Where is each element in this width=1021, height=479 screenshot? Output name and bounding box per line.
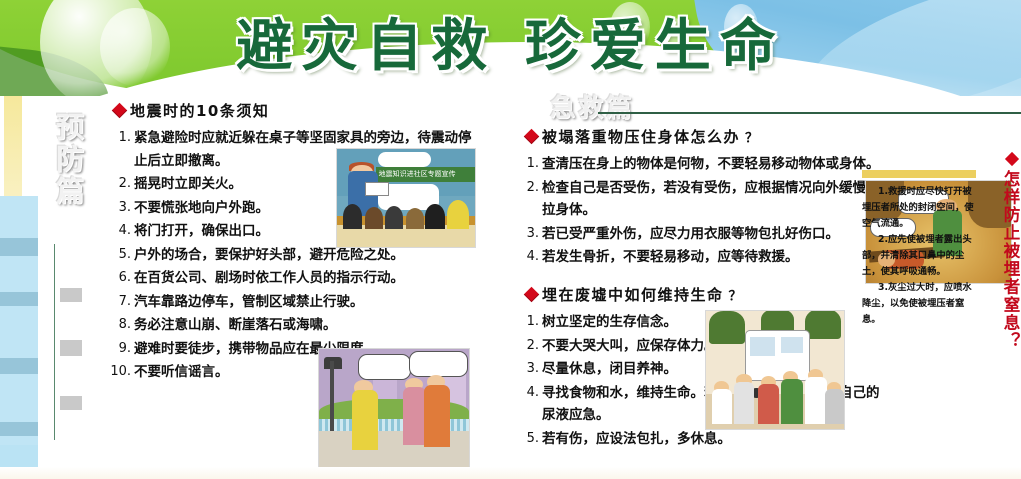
lecture-book: [365, 182, 389, 196]
list-item-number: 3.: [110, 197, 131, 220]
list-item-number: 1.: [522, 153, 539, 176]
rail-gray-band-2: [60, 340, 82, 356]
suffocation-prevention-text: 1.救援时应尽快打开被埋压者所处的封闭空间，使空气流通。 2.应先使被埋者露出头…: [862, 184, 978, 328]
list-item-text: 若有伤，应设法包扎，多休息。: [542, 428, 882, 451]
ambulance-window-2: [781, 337, 803, 354]
list-item: 3.若已受严重外伤，应尽力用衣服等物包扎好伤口。: [522, 223, 882, 246]
list-item-number: 10.: [110, 361, 131, 384]
subsection-1-question-mark: ？: [745, 127, 760, 146]
section-label-first-aid: 急救篇: [550, 88, 634, 124]
lecture-audience-2: [365, 207, 383, 230]
poster-title: 避灾自救 珍爱生命: [0, 16, 1021, 78]
list-item-number: 5.: [110, 244, 131, 267]
illustration-community-lecture: 地震知识进社区专题宣传: [336, 148, 476, 248]
street-person-1-body: [352, 390, 378, 450]
list-item: 2.检查自己是否受伤，若没有受伤，应根据情况向外缓慢拽拉身体。: [522, 177, 882, 222]
subsection-2-heading-text: 埋在废墟中如何维持生命: [542, 284, 724, 305]
list-item: 8.务必注意山崩、断崖落石或海啸。: [110, 314, 472, 337]
street-person-3-body: [424, 385, 450, 447]
list-item-number: 3.: [522, 223, 539, 246]
left-section-heading-text: 地震时的10条须知: [130, 100, 269, 121]
rail-band-2: [0, 292, 38, 306]
street-lamp-post: [330, 361, 334, 431]
list-item: 5.若有伤，应设法包扎，多休息。: [522, 428, 882, 451]
list-item-number: 2.: [522, 335, 539, 358]
list-item-text: 务必注意山崩、断崖落石或海啸。: [134, 314, 472, 337]
subsection-1-heading-text: 被塌落重物压住身体怎么办: [542, 126, 740, 147]
left-decorative-rail: 预防篇: [0, 96, 112, 479]
ambulance-person-6-body: [825, 389, 844, 424]
lecture-audience-5: [425, 204, 444, 229]
street-speech-bubble-2: [409, 351, 468, 377]
illustration-street-rumor: [318, 348, 470, 470]
ambulance-person-4-body: [781, 379, 803, 424]
left-content-column: 地震时的10条须知 地震知识进社区专题宣传 1.紧急避险时应就近躲: [110, 100, 472, 479]
list-item-number: 6.: [110, 267, 131, 290]
lecture-speech-bubble-1: [378, 152, 430, 167]
far-right-top-bar: [862, 170, 976, 178]
subsection-1-heading: 被塌落重物压住身体怎么办 ？: [526, 126, 882, 147]
list-item-number: 3.: [522, 358, 539, 381]
list-item-number: 8.: [110, 314, 131, 337]
list-item-text: 在百货公司、剧场时依工作人员的指示行动。: [134, 267, 472, 290]
rail-band-1: [0, 238, 38, 256]
ambulance-person-3-body: [758, 384, 779, 424]
poster-page: 避灾自救 珍爱生命 预防篇 地震时的10条须知 地震知识进社区专题宣传: [0, 0, 1021, 479]
list-item-number: 7.: [110, 291, 131, 314]
lecture-audience-6: [447, 200, 469, 229]
list-item-number: 9.: [110, 338, 131, 361]
list-item-number: 1.: [522, 311, 539, 334]
list-item-number: 2.: [110, 173, 131, 196]
diamond-bullet-icon: [112, 103, 128, 119]
first-aid-subsection-1: 被塌落重物压住身体怎么办 ？ 1.查清压在身上的物体是何物，不要轻易移动物体或身…: [522, 126, 882, 270]
list-item-text: 汽车靠路边停车，管制区域禁止行驶。: [134, 291, 472, 314]
diamond-bullet-icon: [524, 287, 540, 303]
suffocation-prevention-title: 怎样防止被埋者窒息？: [997, 170, 1021, 350]
list-item-number: 4.: [522, 382, 539, 405]
lecture-audience-1: [343, 204, 362, 229]
list-item: 7.汽车靠路边停车，管制区域禁止行驶。: [110, 291, 472, 314]
list-item: 6.在百货公司、剧场时依工作人员的指示行动。: [110, 267, 472, 290]
rail-yellow-strip: [4, 96, 22, 196]
rail-band-3: [0, 358, 38, 374]
list-item-number: 1.: [110, 127, 131, 150]
illustration-ambulance-crowd: [705, 310, 845, 430]
street-person-2-body: [403, 387, 426, 445]
list-item-text: 若发生骨折，不要轻易移动，应等待救援。: [542, 246, 882, 269]
left-section-heading: 地震时的10条须知: [114, 100, 472, 121]
list-item-text: 检查自己是否受伤，若没有受伤，应根据情况向外缓慢拽拉身体。: [542, 177, 882, 222]
section-divider-rule: [598, 112, 1021, 114]
ambulance-person-1-body: [712, 389, 733, 424]
ambulance-tree-3: [805, 310, 841, 339]
header-banner: 避灾自救 珍爱生命: [0, 0, 1021, 96]
ambulance-tree-1: [709, 311, 745, 344]
subsection-2-question-mark: ？: [729, 285, 744, 304]
lecture-audience-3: [385, 206, 403, 230]
ambulance-person-2-body: [734, 382, 755, 424]
far-right-column: 1.救援时应尽快打开被埋压者所处的封闭空间，使空气流通。 2.应先使被埋者露出头…: [862, 176, 1021, 479]
lecture-banner-text: 地震知识进社区专题宣传: [379, 168, 456, 181]
suffocation-paragraph-1: 1.救援时应尽快打开被埋压者所处的封闭空间，使空气流通。: [862, 184, 978, 232]
rail-band-4: [0, 422, 38, 436]
lecture-audience-4: [406, 208, 424, 230]
list-item-number: 2.: [522, 177, 539, 200]
suffocation-paragraph-2: 2.应先使被埋者露出头部，并清除其口鼻中的尘土，使其呼吸通畅。: [862, 232, 978, 280]
list-item: 4.若发生骨折，不要轻易移动，应等待救援。: [522, 246, 882, 269]
rail-vertical-line: [54, 244, 55, 440]
ambulance-window-1: [750, 337, 775, 356]
rail-gray-band-1: [60, 288, 82, 302]
bottom-edge-fade: [0, 467, 1021, 479]
first-aid-list-1: 1.查清压在身上的物体是何物，不要轻易移动物体或身体。 2.检查自己是否受伤，若…: [522, 153, 882, 269]
suffocation-paragraph-3: 3.灰尘过大时，应喷水降尘，以免使被埋压者窒息。: [862, 280, 978, 328]
street-speech-bubble-1: [358, 354, 411, 380]
list-item-text: 查清压在身上的物体是何物，不要轻易移动物体或身体。: [542, 153, 882, 176]
diamond-bullet-icon: [1005, 152, 1019, 166]
list-item-text: 若已受严重外伤，应尽力用衣服等物包扎好伤口。: [542, 223, 882, 246]
right-content-column: 急救篇 被塌落重物压住身体怎么办 ？ 1.查清压在身上的物体是何物，不要轻易移动…: [500, 88, 880, 479]
section-label-prevention: 预防篇: [44, 112, 88, 208]
list-item: 1.查清压在身上的物体是何物，不要轻易移动物体或身体。: [522, 153, 882, 176]
rail-gray-band-3: [60, 396, 82, 410]
list-item-number: 4.: [522, 246, 539, 269]
list-item-number: 4.: [110, 220, 131, 243]
diamond-bullet-icon: [524, 129, 540, 145]
list-item-number: 5.: [522, 428, 539, 451]
subsection-2-heading: 埋在废墟中如何维持生命 ？: [526, 284, 882, 305]
lecture-banner: 地震知识进社区专题宣传: [376, 167, 475, 182]
